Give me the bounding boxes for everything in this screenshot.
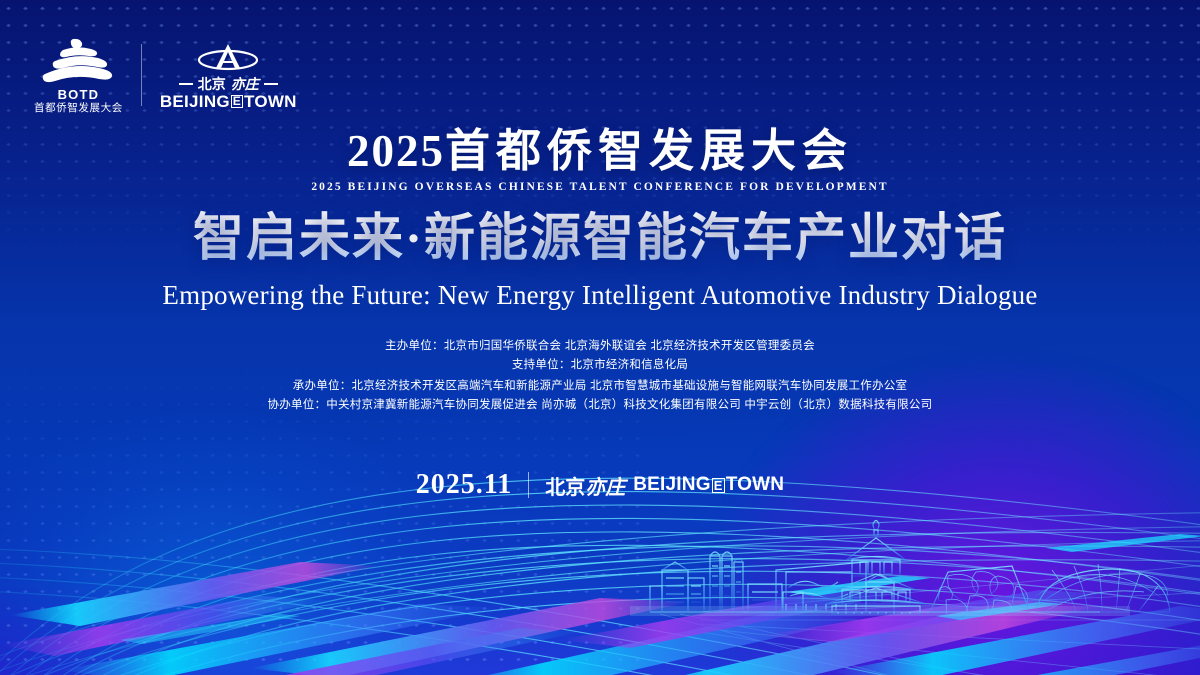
conference-backdrop: BOTD 首都侨智发展大会 北京 亦庄 BEIJING E TOWN bbox=[0, 0, 1200, 675]
etown-en-boxed-e: E bbox=[231, 95, 243, 108]
etown-en-b: TOWN bbox=[244, 93, 297, 110]
botd-chinese-name: 首都侨智发展大会 bbox=[34, 103, 123, 115]
etown-rule-left bbox=[179, 83, 193, 85]
etown-arch-mark bbox=[195, 41, 261, 75]
footer-logo-chinese: 北京亦庄 bbox=[545, 471, 625, 500]
logo-divider bbox=[141, 44, 142, 106]
date-logo-bar: 2025.11 北京亦庄 BEIJING E TOWN bbox=[0, 469, 1200, 501]
event-date: 2025.11 bbox=[416, 469, 512, 501]
conference-title-english: 2025 BEIJING OVERSEAS CHINESE TALENT CON… bbox=[0, 181, 1200, 193]
footer-etown-logo: 北京亦庄 BEIJING E TOWN bbox=[545, 471, 784, 500]
date-divider bbox=[528, 472, 529, 498]
footer-logo-english: BEIJING E TOWN bbox=[633, 474, 784, 496]
conference-title: 2025首都侨智发展大会 bbox=[0, 126, 1200, 176]
conference-title-cn: 首都侨智发展大会 bbox=[445, 126, 853, 176]
organizer-line-support: 支持单位：北京市经济和信息化局 bbox=[0, 356, 1200, 375]
organizer-line-coorganizer: 协办单位：中关村京津冀新能源汽车协同发展促进会 尚亦城（北京）科技文化集团有限公… bbox=[0, 396, 1200, 415]
conference-title-year: 2025 bbox=[347, 126, 445, 176]
etown-cn-prefix: 北京 bbox=[198, 77, 226, 91]
headline: 智启未来·新能源智能汽车产业对话 bbox=[0, 210, 1200, 268]
etown-logo: 北京 亦庄 BEIJING E TOWN bbox=[160, 41, 297, 110]
etown-rule-right bbox=[264, 83, 278, 85]
etown-chinese-name: 北京 亦庄 bbox=[179, 77, 278, 91]
organizer-line-host: 主办单位：北京市归国华侨联合会 北京海外联谊会 北京经济技术开发区管理委员会 bbox=[0, 337, 1200, 356]
botd-acronym: BOTD bbox=[58, 88, 100, 101]
footer-en-b: TOWN bbox=[726, 474, 785, 496]
organizer-block: 主办单位：北京市归国华侨联合会 北京海外联谊会 北京经济技术开发区管理委员会 支… bbox=[0, 337, 1200, 414]
etown-en-a: BEIJING bbox=[160, 93, 230, 110]
botd-logo: BOTD 首都侨智发展大会 bbox=[34, 36, 123, 115]
headline-english: Empowering the Future: New Energy Intell… bbox=[0, 280, 1200, 311]
title-block: 2025首都侨智发展大会 2025 BEIJING OVERSEAS CHINE… bbox=[0, 126, 1200, 311]
organizer-line-undertaker: 承办单位：北京经济技术开发区高端汽车和新能源产业局 北京市智慧城市基础设施与智能… bbox=[0, 377, 1200, 396]
footer-en-a: BEIJING bbox=[633, 474, 710, 496]
footer-cn-suffix: 亦庄 bbox=[585, 477, 625, 499]
botd-pagoda-mark bbox=[39, 36, 117, 86]
footer-en-boxed-e: E bbox=[712, 478, 725, 493]
footer-cn-prefix: 北京 bbox=[545, 477, 585, 499]
etown-english-name: BEIJING E TOWN bbox=[160, 93, 297, 110]
header-logo-lockup: BOTD 首都侨智发展大会 北京 亦庄 BEIJING E TOWN bbox=[34, 36, 297, 115]
etown-cn-suffix: 亦庄 bbox=[231, 77, 259, 91]
